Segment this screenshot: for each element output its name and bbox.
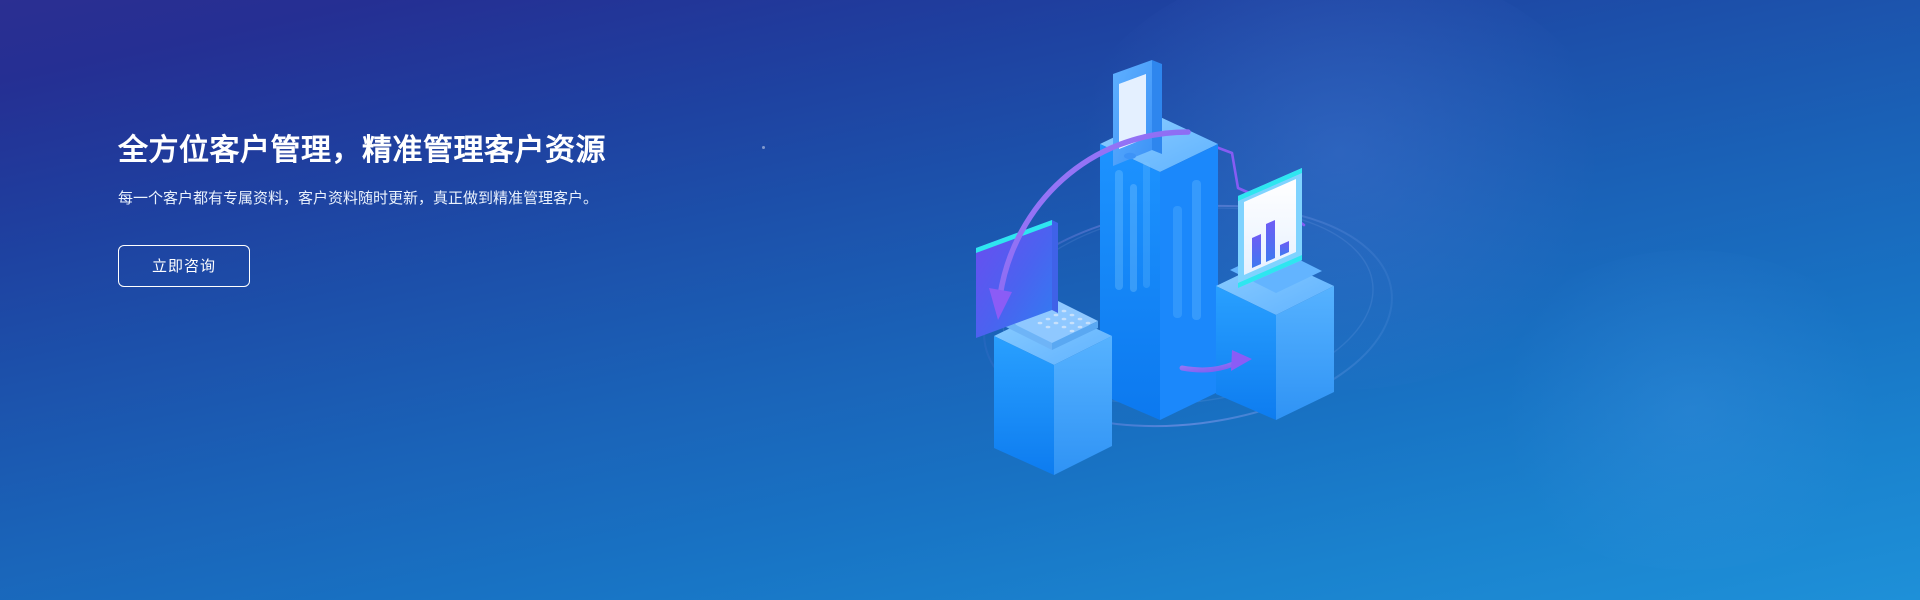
monitor-device — [1230, 168, 1322, 293]
laptop-device — [976, 220, 1098, 350]
hero-banner: 全方位客户管理，精准管理客户资源 每一个客户都有专属资料，客户资料随时更新，真正… — [0, 0, 1920, 600]
page-title: 全方位客户管理，精准管理客户资源 — [118, 132, 678, 170]
sparkle-dot-icon — [762, 146, 765, 149]
tablet-device — [1113, 60, 1162, 166]
hero-illustration — [930, 20, 1400, 500]
background-glow-blob-secondary — [1480, 250, 1900, 570]
consult-now-button[interactable]: 立即咨询 — [118, 245, 250, 287]
hero-subtitle: 每一个客户都有专属资料，客户资料随时更新，真正做到精准管理客户。 — [118, 187, 603, 211]
hero-copy-block: 全方位客户管理，精准管理客户资源 每一个客户都有专属资料，客户资料随时更新，真正… — [118, 132, 678, 287]
